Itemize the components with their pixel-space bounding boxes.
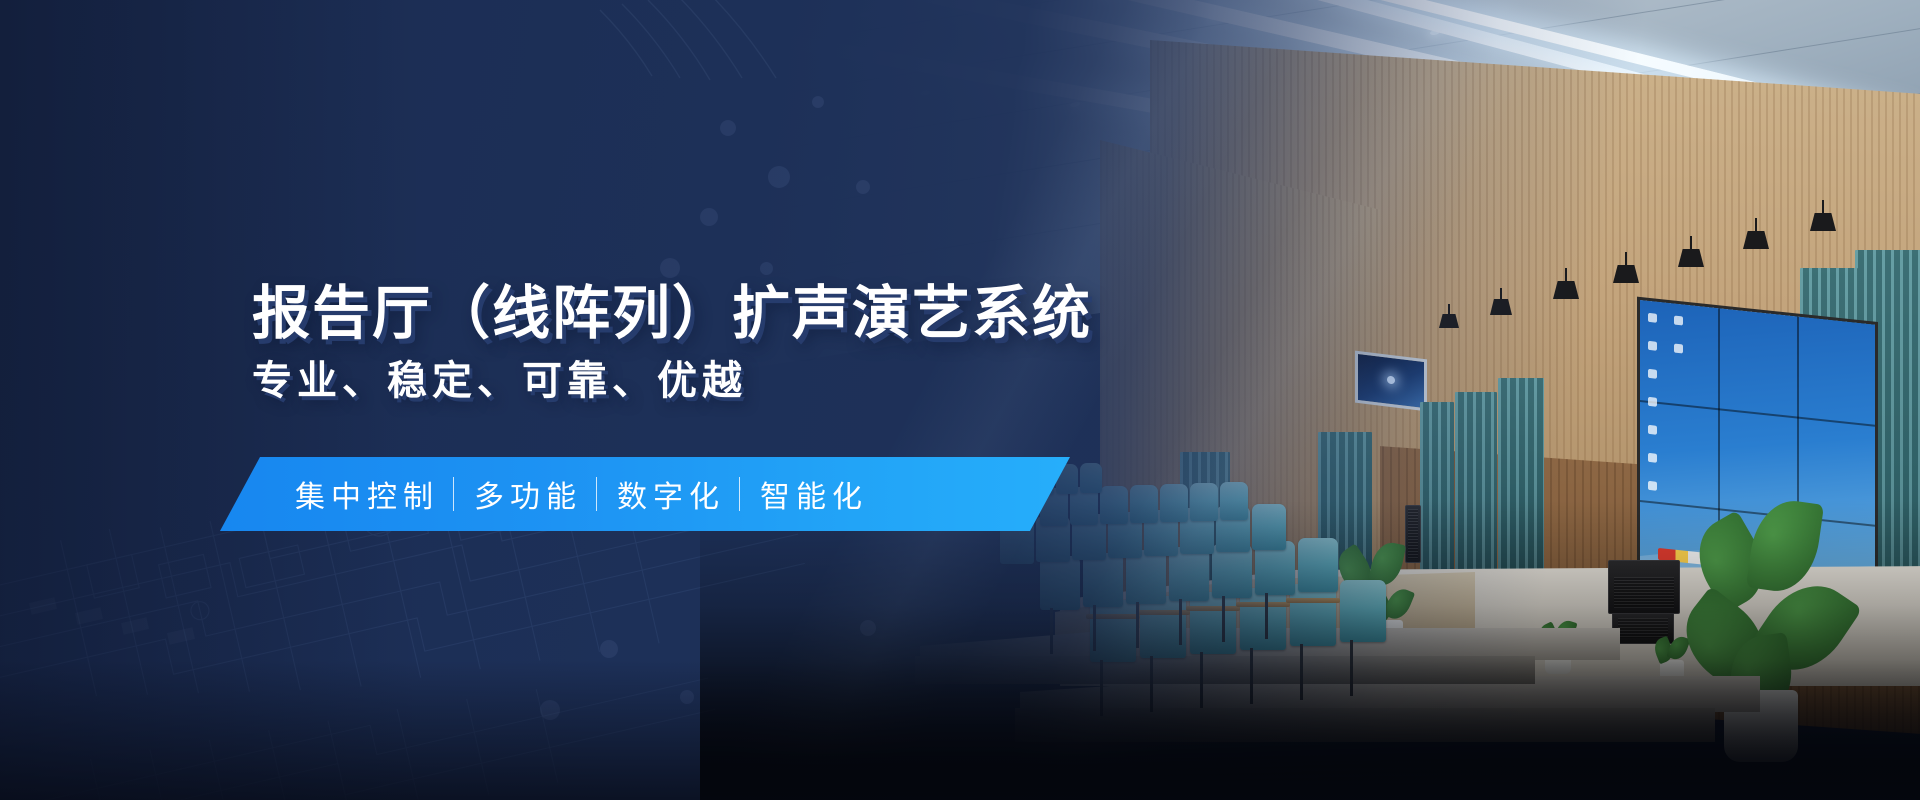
feature-tag-bar: 集中控制 多功能 数字化 智能化 [220, 457, 1070, 531]
feature-tag-list: 集中控制 多功能 数字化 智能化 [295, 472, 868, 516]
tag-separator [453, 477, 454, 511]
feature-tag-3: 数字化 [617, 472, 725, 516]
product-banner: 报告厅（线阵列）扩声演艺系统 专业、稳定、可靠、优越 集中控制 多功能 数字化 … [0, 0, 1920, 800]
feature-tag-4: 智能化 [760, 472, 868, 516]
feature-tag-2: 多功能 [474, 472, 582, 516]
banner-title: 报告厅（线阵列）扩声演艺系统 [252, 282, 1092, 347]
feature-tag-1: 集中控制 [295, 472, 439, 516]
banner-content: 报告厅（线阵列）扩声演艺系统 专业、稳定、可靠、优越 集中控制 多功能 数字化 … [0, 0, 1920, 800]
tag-separator [596, 477, 597, 511]
banner-subtitle: 专业、稳定、可靠、优越 [252, 358, 747, 404]
tag-separator [739, 477, 740, 511]
